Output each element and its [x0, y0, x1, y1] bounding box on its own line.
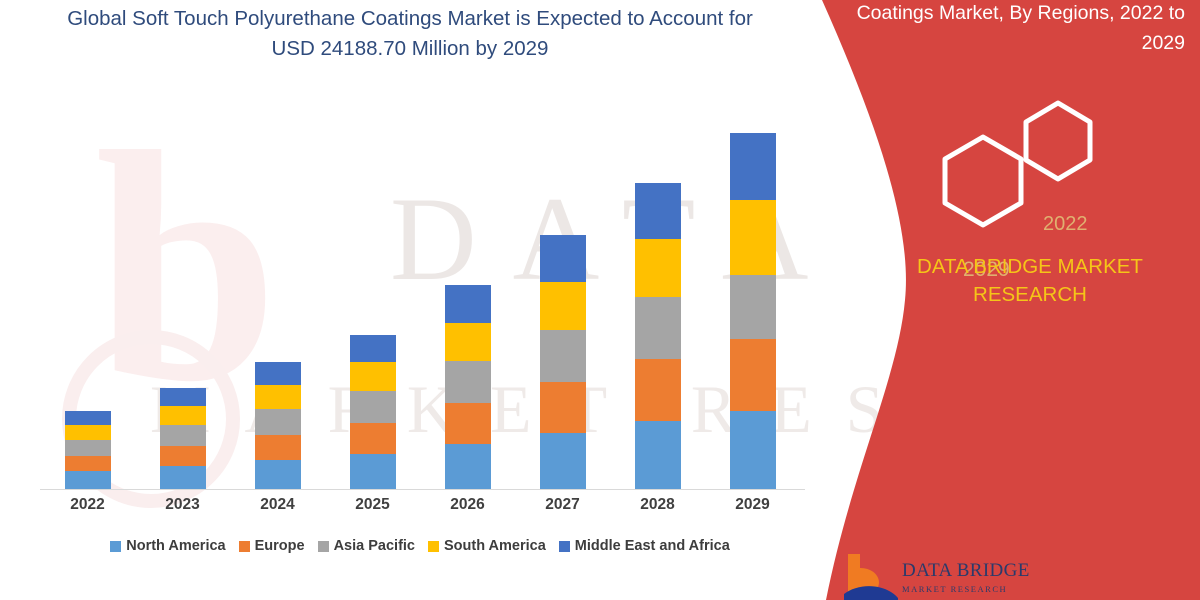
bar-segment: [255, 409, 301, 435]
legend-label: Middle East and Africa: [575, 538, 730, 554]
bar-column: [230, 95, 325, 489]
bar-segment: [635, 183, 681, 239]
bar-segment: [445, 403, 491, 444]
x-axis-label: 2023: [135, 496, 230, 514]
brand-name: DATA BRIDGE MARKET RESEARCH: [880, 253, 1180, 309]
panel-title: Coatings Market, By Regions, 2022 to 202…: [855, 0, 1185, 58]
bar-segment: [255, 362, 301, 385]
infographic-root: b DATA BRIDGE MARKET RESEARCH Global Sof…: [0, 0, 1200, 600]
hexagon-badges: 2029 2022: [925, 95, 1115, 230]
bar-column: [40, 95, 135, 489]
stacked-bar: [255, 362, 301, 489]
bar-segment: [65, 411, 111, 425]
bar-column: [135, 95, 230, 489]
legend-item[interactable]: North America: [110, 538, 225, 554]
chart-legend: North AmericaEuropeAsia PacificSouth Ame…: [40, 538, 800, 554]
bar-segment: [160, 466, 206, 489]
stacked-bar: [350, 335, 396, 489]
x-axis-label: 2028: [610, 496, 705, 514]
x-axis-label: 2027: [515, 496, 610, 514]
bar-segment: [730, 411, 776, 489]
stacked-bar: [635, 183, 681, 489]
logo-name: DATA BRIDGE: [902, 560, 1030, 582]
bar-segment: [445, 323, 491, 361]
legend-swatch-icon: [318, 541, 329, 552]
bar-segment: [540, 282, 586, 329]
bar-segment: [350, 362, 396, 391]
legend-item[interactable]: South America: [428, 538, 546, 554]
bar-column: [705, 95, 800, 489]
x-axis-label: 2022: [40, 496, 135, 514]
legend-item[interactable]: Europe: [239, 538, 305, 554]
bar-segment: [160, 425, 206, 446]
bar-segment: [540, 382, 586, 433]
stacked-bar-chart: [40, 95, 800, 489]
bar-column: [325, 95, 420, 489]
hexagon-2022-icon: [1026, 103, 1090, 179]
legend-label: South America: [444, 538, 546, 554]
bar-segment: [65, 440, 111, 456]
bar-segment: [160, 388, 206, 406]
x-axis-labels: 20222023202420252026202720282029: [40, 496, 800, 524]
logo-mark-icon: [840, 552, 900, 600]
bar-segment: [255, 385, 301, 409]
bar-segment: [445, 361, 491, 403]
bar-column: [420, 95, 515, 489]
bar-segment: [635, 359, 681, 421]
bar-segment: [540, 433, 586, 489]
bar-segment: [350, 391, 396, 423]
hexagon-2022-label: 2022: [1043, 213, 1088, 236]
bar-segment: [445, 285, 491, 322]
bar-segment: [350, 335, 396, 362]
bar-segment: [635, 297, 681, 359]
data-bridge-logo: DATA BRIDGE MARKET RESEARCH: [840, 552, 1100, 600]
bar-segment: [160, 406, 206, 425]
legend-swatch-icon: [110, 541, 121, 552]
brand-line-1: DATA BRIDGE MARKET: [880, 253, 1180, 281]
x-axis-label: 2026: [420, 496, 515, 514]
bar-segment: [350, 423, 396, 454]
bar-segment: [160, 446, 206, 466]
stacked-bar: [730, 133, 776, 489]
stacked-bar: [160, 388, 206, 489]
stacked-bar: [65, 411, 111, 489]
legend-label: Europe: [255, 538, 305, 554]
bar-segment: [65, 425, 111, 440]
bar-segment: [540, 235, 586, 282]
x-axis-label: 2025: [325, 496, 420, 514]
x-axis-line: [40, 489, 805, 490]
bar-column: [515, 95, 610, 489]
x-axis-label: 2029: [705, 496, 800, 514]
bar-segment: [635, 239, 681, 296]
bar-column: [610, 95, 705, 489]
legend-swatch-icon: [559, 541, 570, 552]
brand-line-2: RESEARCH: [880, 281, 1180, 309]
bar-segment: [65, 471, 111, 489]
hexagon-2029-icon: [945, 137, 1021, 225]
stacked-bar: [445, 285, 491, 489]
bar-segment: [730, 200, 776, 275]
bar-segment: [255, 435, 301, 460]
bar-segment: [255, 460, 301, 489]
bar-segment: [730, 339, 776, 411]
chart-title: Global Soft Touch Polyurethane Coatings …: [60, 4, 760, 64]
logo-tagline: MARKET RESEARCH: [902, 584, 1007, 594]
x-axis-label: 2024: [230, 496, 325, 514]
legend-label: North America: [126, 538, 225, 554]
hexagon-outline-group: [925, 95, 1115, 230]
bar-segment: [730, 275, 776, 338]
bar-segment: [730, 133, 776, 200]
legend-item[interactable]: Asia Pacific: [318, 538, 415, 554]
stacked-bar: [540, 235, 586, 489]
bar-segment: [350, 454, 396, 489]
bar-segment: [635, 421, 681, 489]
legend-item[interactable]: Middle East and Africa: [559, 538, 730, 554]
bar-segment: [445, 444, 491, 489]
legend-swatch-icon: [428, 541, 439, 552]
legend-swatch-icon: [239, 541, 250, 552]
bar-segment: [65, 456, 111, 471]
bar-segment: [540, 330, 586, 382]
legend-label: Asia Pacific: [334, 538, 415, 554]
